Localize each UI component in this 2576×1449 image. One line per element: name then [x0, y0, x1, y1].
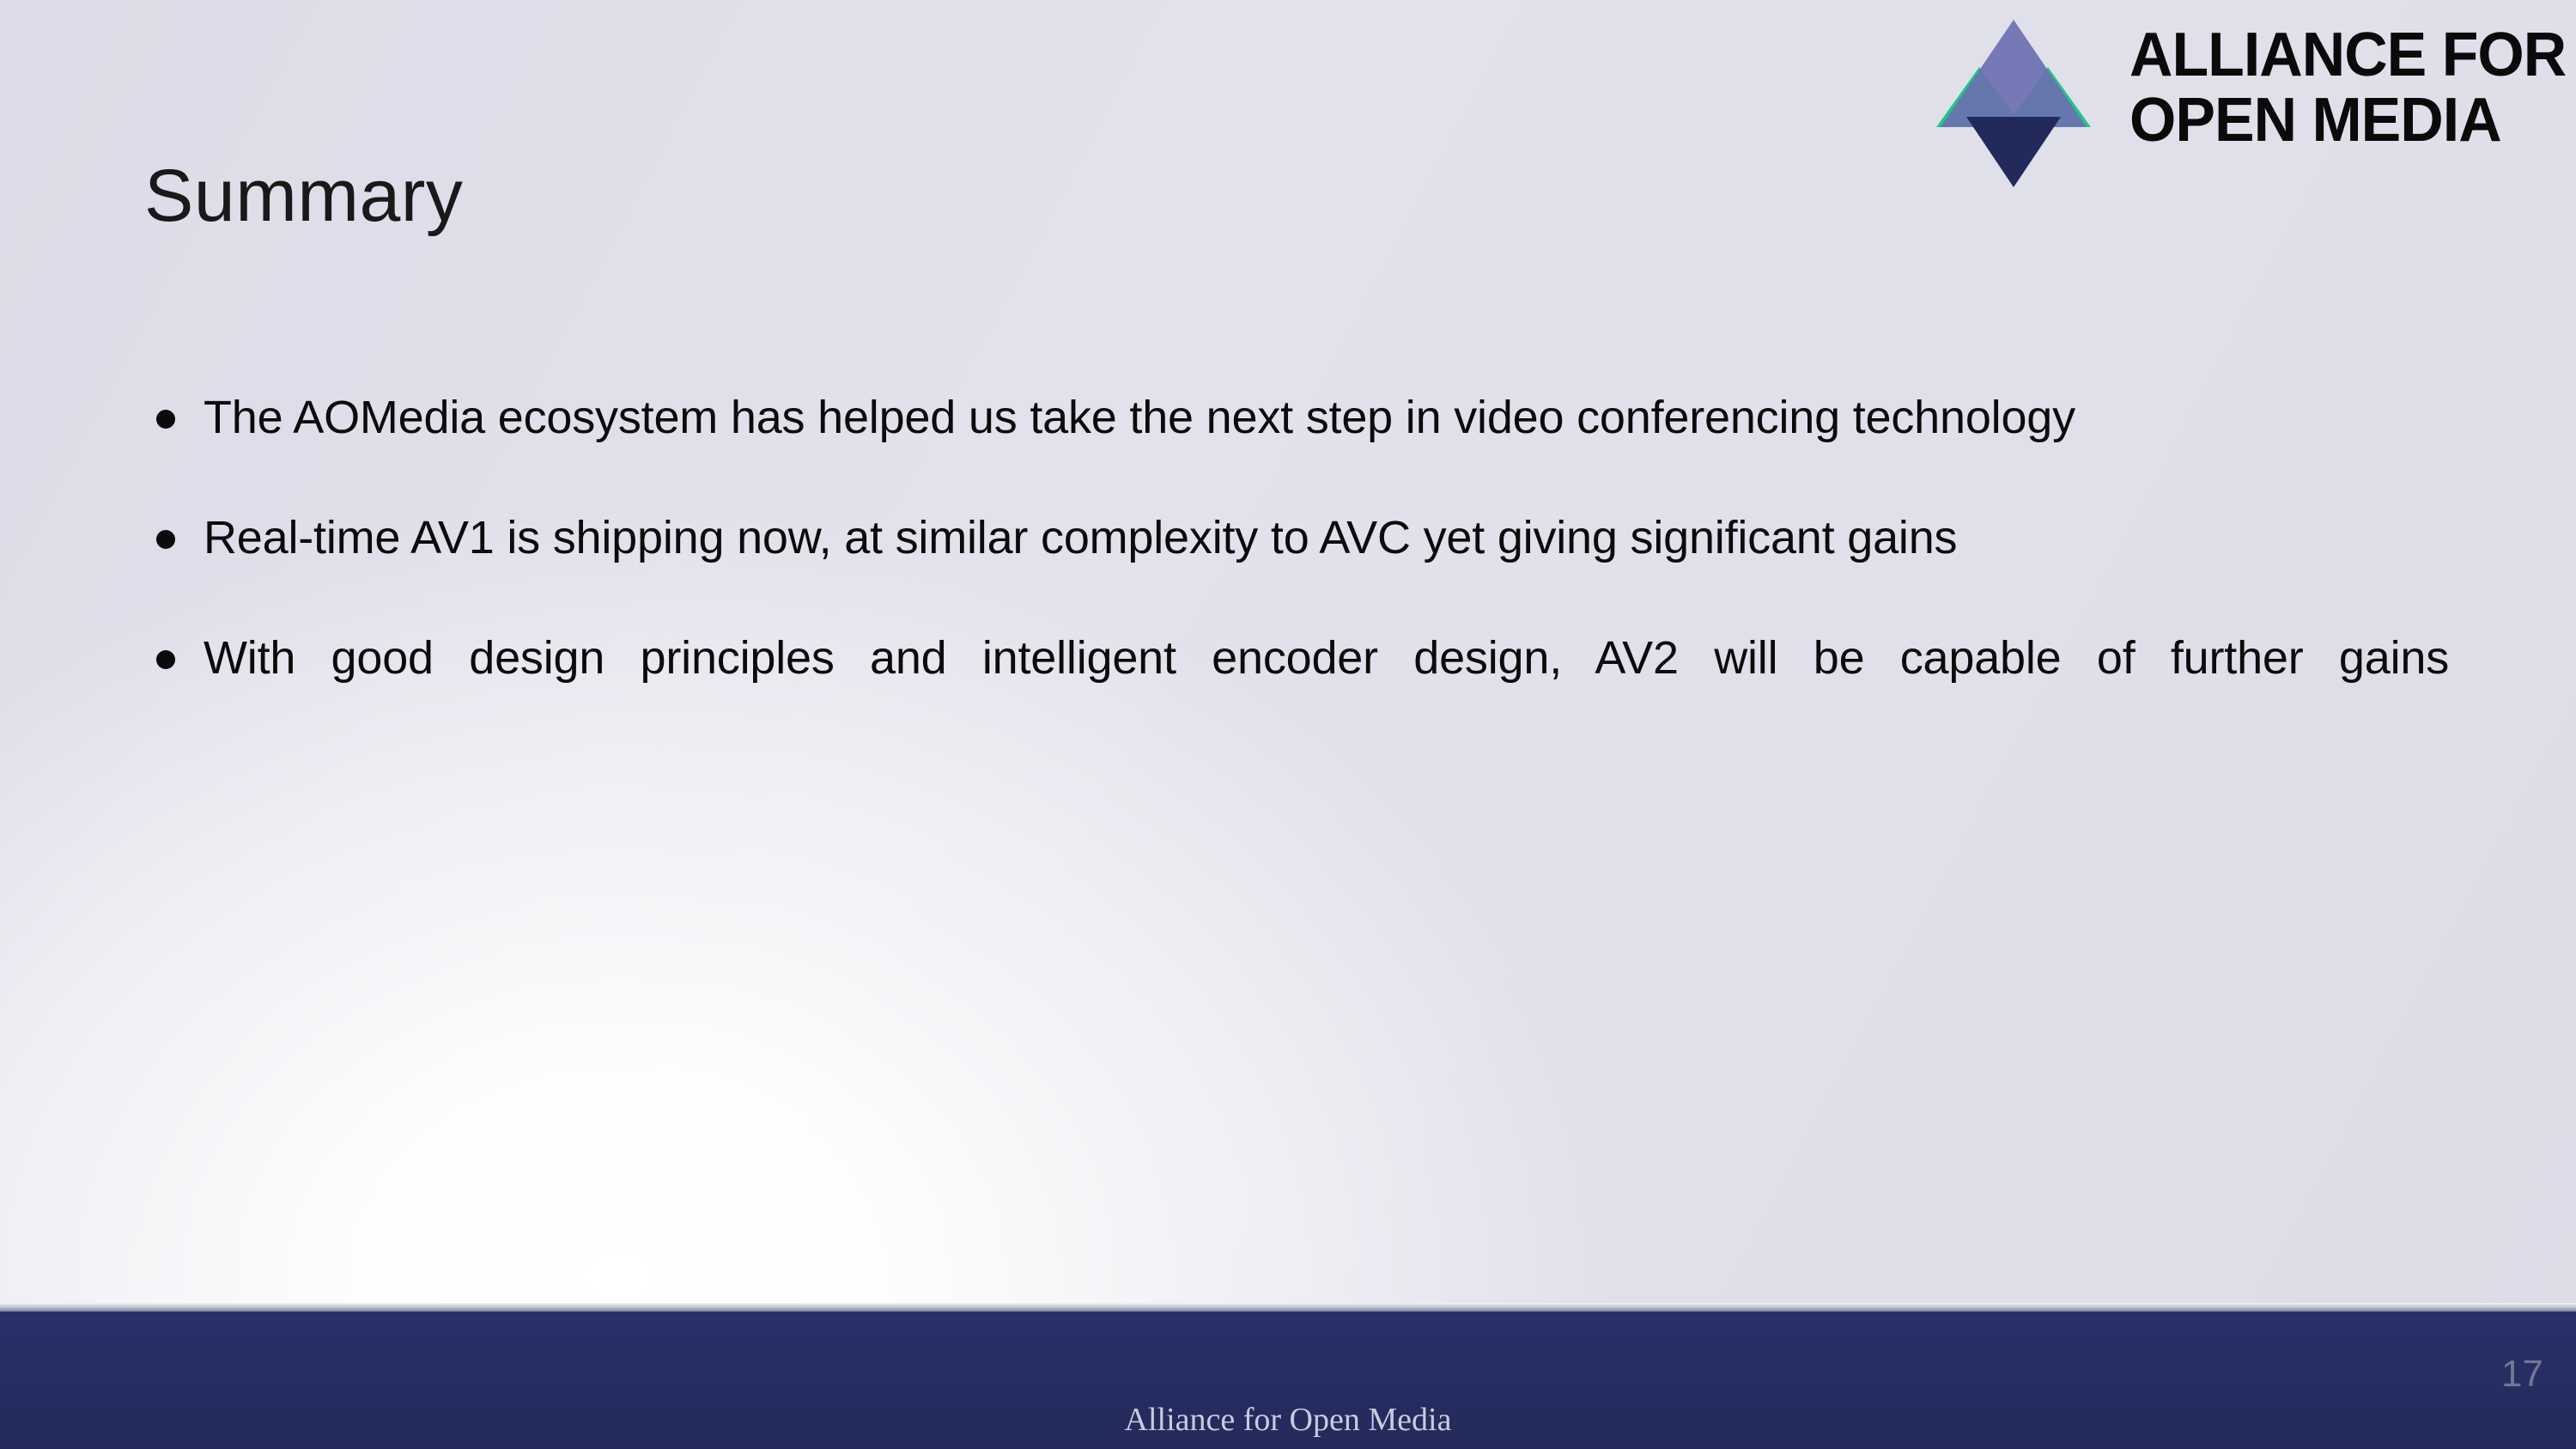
logo-wordmark: ALLIANCE FOR OPEN MEDIA: [2129, 22, 2559, 153]
bullet-dot-icon: [156, 530, 175, 549]
list-item: Real-time AV1 is shipping now, at simila…: [146, 511, 2430, 564]
navy-triangle-down: [1966, 117, 2061, 187]
logo-line-1: ALLIANCE FOR: [2129, 22, 2546, 88]
presentation-slide: ALLIANCE FOR OPEN MEDIA Summary The AOMe…: [0, 0, 2576, 1449]
bullet-dot-icon: [156, 410, 175, 429]
page-number: 17: [2501, 1353, 2543, 1396]
periwinkle-triangle-up: [1941, 20, 2087, 127]
footer-divider: [0, 1303, 2576, 1312]
list-item-text: Real-time AV1 is shipping now, at simila…: [204, 512, 1957, 563]
aomedia-triangle-mark: [1928, 15, 2099, 192]
page-title: Summary: [144, 153, 463, 239]
list-item-text: With good design principles and intellig…: [204, 632, 2449, 684]
bullet-list: The AOMedia ecosystem has helped us take…: [146, 391, 2430, 685]
list-item: With good design principles and intellig…: [146, 631, 2449, 685]
list-item: The AOMedia ecosystem has helped us take…: [146, 391, 2430, 444]
aomedia-logo: ALLIANCE FOR OPEN MEDIA: [1928, 15, 2555, 187]
list-item-text: The AOMedia ecosystem has helped us take…: [204, 392, 2075, 443]
footer-label: Alliance for Open Media: [0, 1401, 2576, 1439]
logo-line-2: OPEN MEDIA: [2129, 88, 2546, 153]
bullet-dot-icon: [156, 650, 175, 669]
